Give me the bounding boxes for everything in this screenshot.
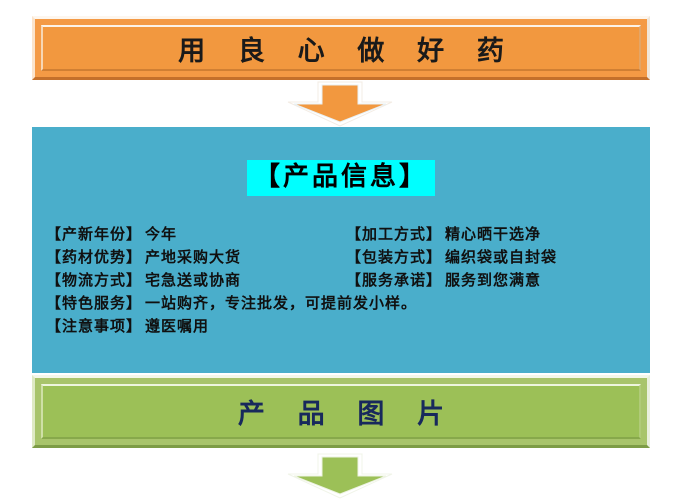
info-cell: 【产新年份】 今年: [46, 223, 346, 244]
arrow-down-icon: [280, 452, 400, 500]
info-cell: 【服务承诺】 服务到您满意: [346, 269, 640, 290]
info-row: 【物流方式】 宅急送或协商 【服务承诺】 服务到您满意: [46, 269, 640, 292]
header-title: 用 良 心 做 好 药: [165, 29, 517, 68]
product-info-panel: 【产品信息】 【产新年份】 今年 【加工方式】 精心晒干选净 【药材优势】 产地…: [32, 127, 650, 373]
arrow-down-bottom: [280, 452, 400, 500]
info-label: 【加工方式】: [346, 223, 442, 244]
info-value: 宅急送或协商: [145, 269, 241, 290]
info-cell: 【注意事项】 遵医嘱用: [46, 315, 640, 336]
header-banner-inner: 用 良 心 做 好 药: [41, 25, 641, 71]
info-label: 【特色服务】: [46, 292, 142, 313]
info-value: 产地采购大货: [145, 246, 241, 267]
info-label: 【物流方式】: [46, 269, 142, 290]
info-row: 【注意事项】 遵医嘱用: [46, 315, 640, 338]
info-row: 【特色服务】 一站购齐，专注批发，可提前发小样。: [46, 292, 640, 315]
footer-title: 产 品 图 片: [225, 392, 457, 431]
info-cell: 【物流方式】 宅急送或协商: [46, 269, 346, 290]
header-banner: 用 良 心 做 好 药: [32, 16, 650, 80]
info-label: 【包装方式】: [346, 246, 442, 267]
info-label: 【注意事项】: [46, 315, 142, 336]
info-cell: 【药材优势】 产地采购大货: [46, 246, 346, 267]
product-info-title-wrap: 【产品信息】: [32, 160, 650, 196]
footer-banner-inner: 产 品 图 片: [41, 384, 641, 439]
info-label: 【产新年份】: [46, 223, 142, 244]
info-value: 一站购齐，专注批发，可提前发小样。: [145, 292, 417, 313]
poster-page: 用 良 心 做 好 药 【产品信息】 【产新年份】 今年 【加工方式】: [0, 0, 680, 500]
info-label: 【药材优势】: [46, 246, 142, 267]
info-value: 精心晒干选净: [445, 223, 541, 244]
info-cell: 【加工方式】 精心晒干选净: [346, 223, 640, 244]
product-info-title: 【产品信息】: [247, 160, 435, 196]
info-cell: 【特色服务】 一站购齐，专注批发，可提前发小样。: [46, 292, 640, 313]
info-row: 【药材优势】 产地采购大货 【包装方式】 编织袋或自封袋: [46, 246, 640, 269]
info-value: 遵医嘱用: [145, 315, 209, 336]
info-value: 今年: [145, 223, 177, 244]
info-value: 服务到您满意: [445, 269, 541, 290]
footer-banner: 产 品 图 片: [32, 375, 650, 448]
arrow-down-icon: [280, 80, 400, 128]
arrow-down-top: [280, 80, 400, 128]
info-cell: 【包装方式】 编织袋或自封袋: [346, 246, 640, 267]
info-label: 【服务承诺】: [346, 269, 442, 290]
product-info-rows: 【产新年份】 今年 【加工方式】 精心晒干选净 【药材优势】 产地采购大货 【包…: [46, 223, 640, 338]
info-row: 【产新年份】 今年 【加工方式】 精心晒干选净: [46, 223, 640, 246]
info-value: 编织袋或自封袋: [445, 246, 557, 267]
